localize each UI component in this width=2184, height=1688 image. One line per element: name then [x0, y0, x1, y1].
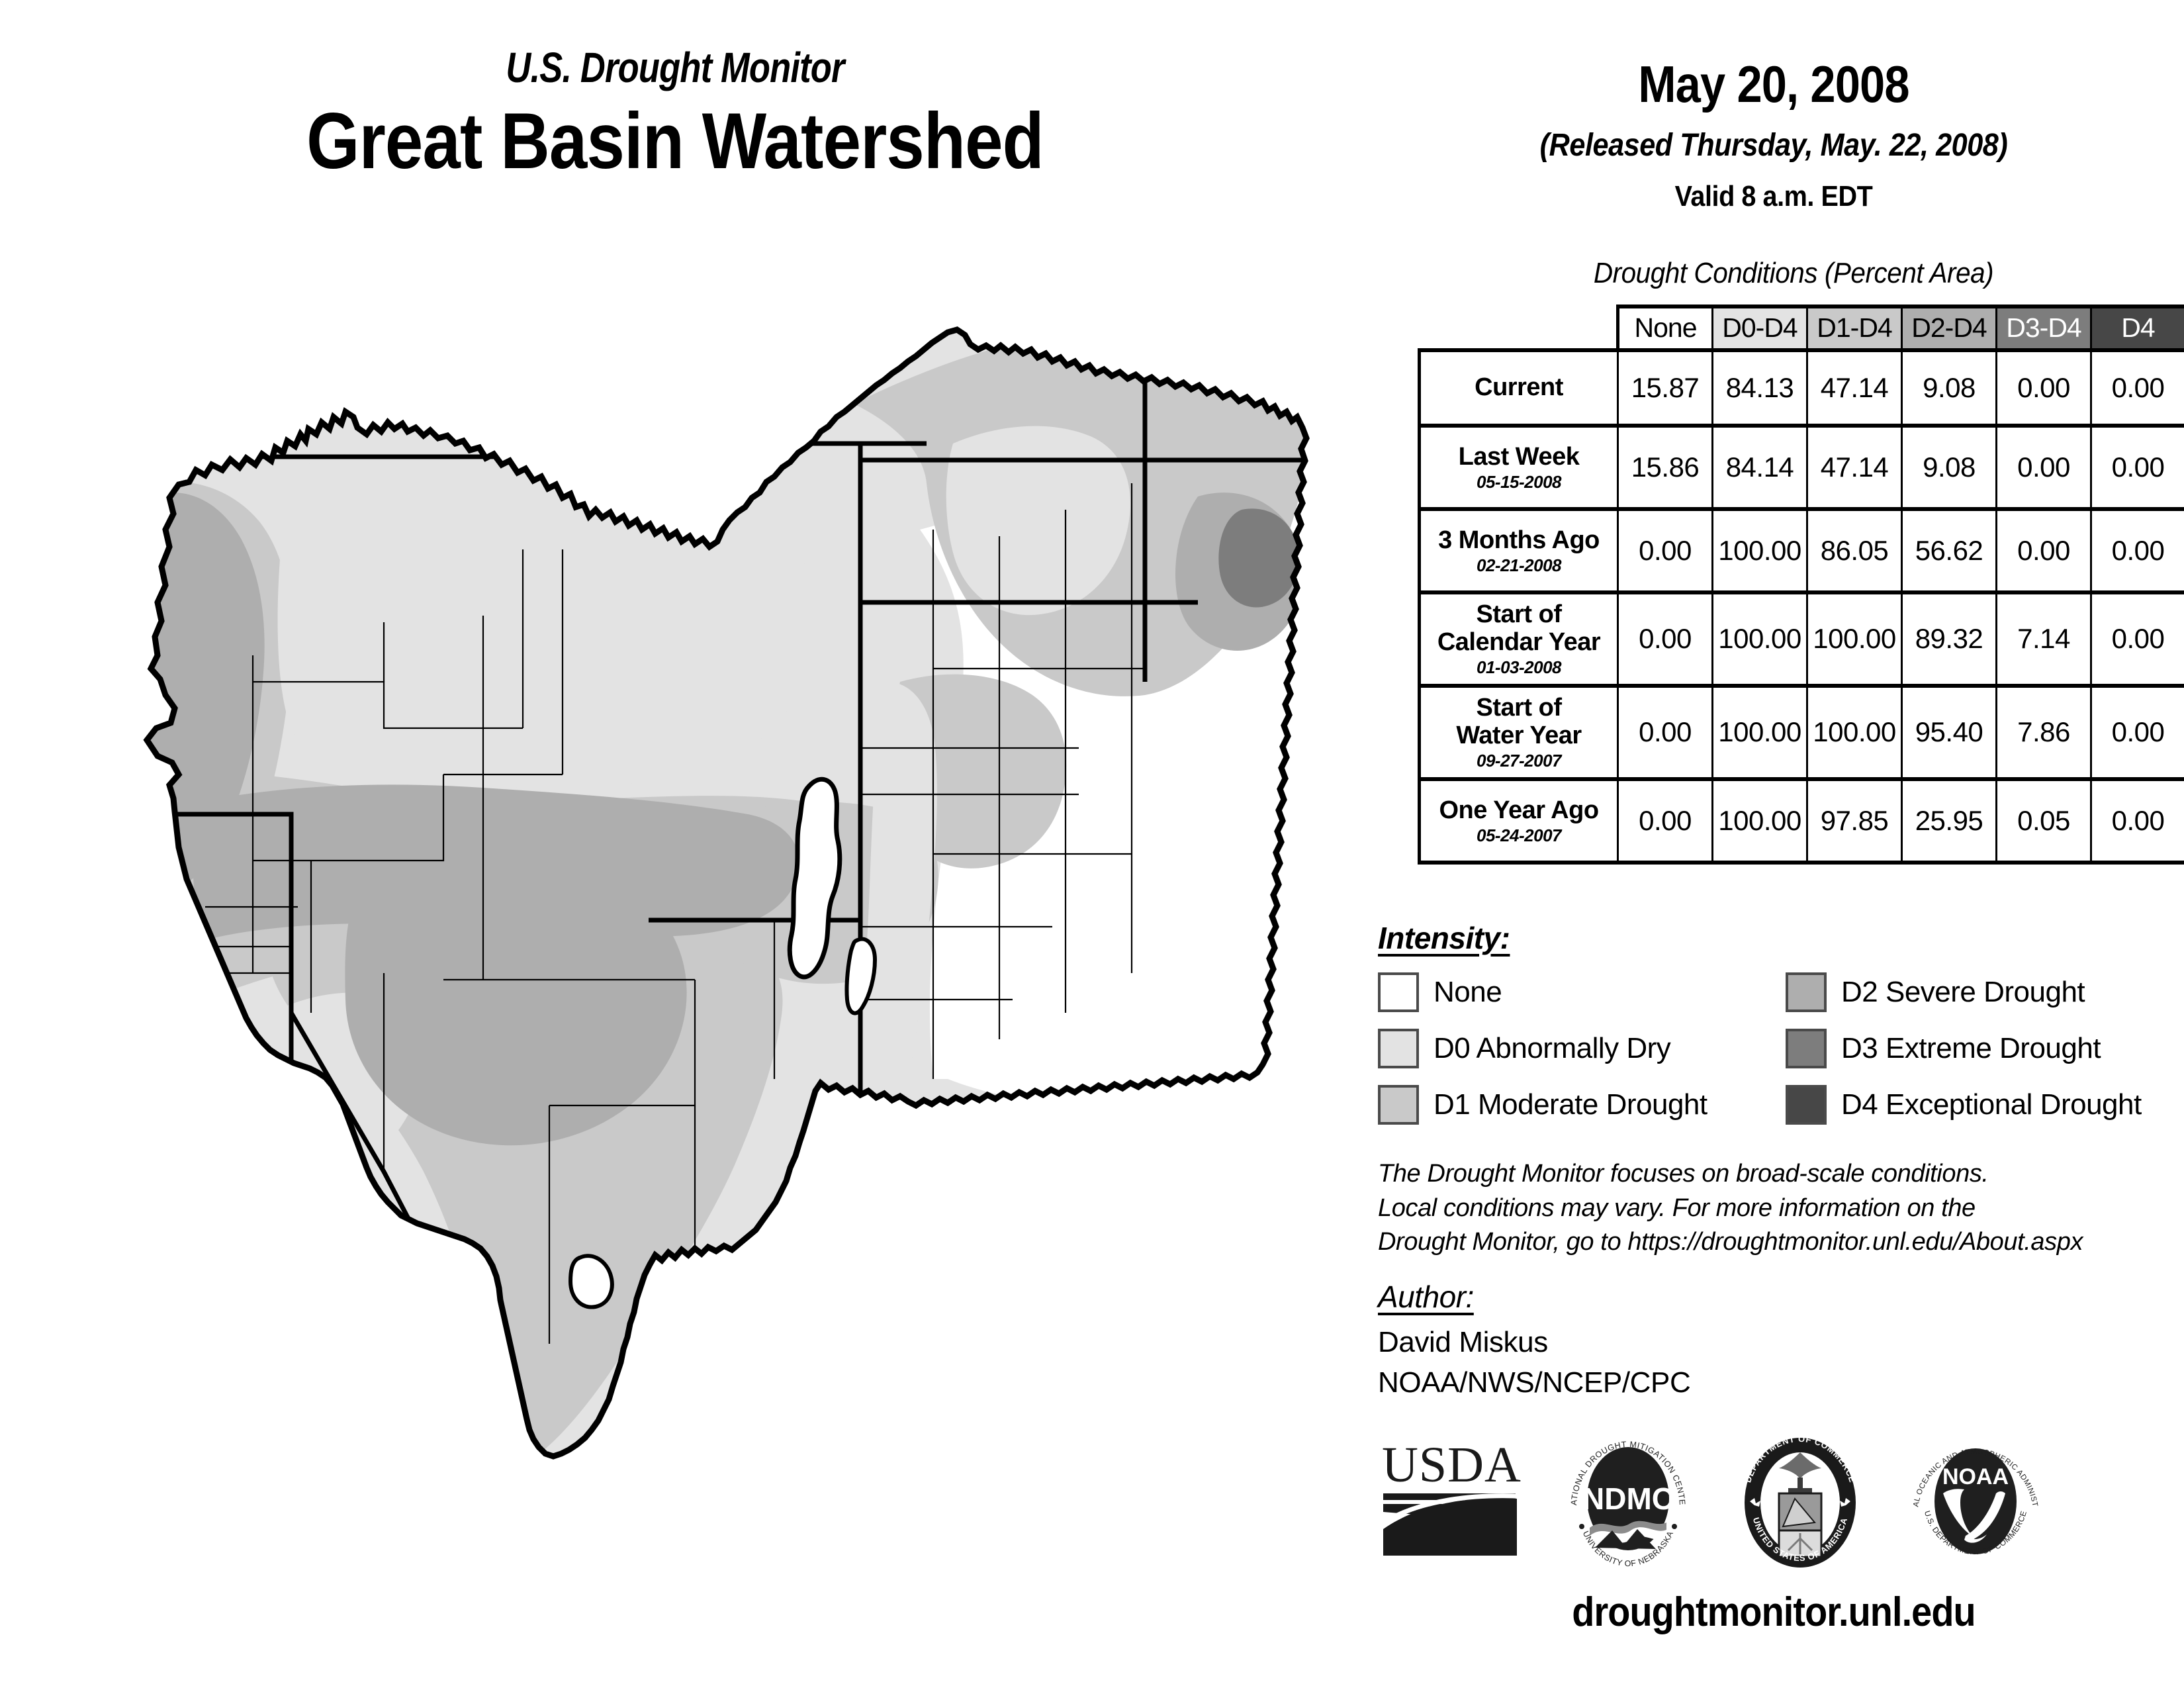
legend-label-none: None [1433, 976, 1502, 1009]
table-header-row: None D0-D4 D1-D4 D2-D4 D3-D4 D4 [1420, 306, 2184, 350]
cell-lastweek-d0d4: 84.14 [1713, 426, 1807, 509]
table-row: Start of Calendar Year 01-03-2008 0.00 1… [1420, 592, 2184, 686]
row-label-3-months-ago: 3 Months Ago 02-21-2008 [1420, 509, 1618, 592]
cell-3mo-d0d4: 100.00 [1713, 509, 1807, 592]
ndmc-logo: NDMC NATIONAL DROUGHT MITIGATION CENTER … [1555, 1430, 1701, 1575]
region-d2-mid-band [193, 784, 799, 940]
cell-swy-d3d4: 7.86 [1997, 686, 2091, 779]
disclaimer-line-2: Local conditions may vary. For more info… [1378, 1192, 2172, 1226]
row-label-text: Last Week [1459, 443, 1580, 471]
cell-swy-d2d4: 95.40 [1902, 686, 1997, 779]
cell-swy-d1d4: 100.00 [1807, 686, 1902, 779]
cell-swy-d0d4: 100.00 [1713, 686, 1807, 779]
row-label-text: Start of Water Year [1456, 694, 1581, 749]
table-caption: Drought Conditions (Percent Area) [1434, 257, 2153, 290]
legend-item-d1[interactable]: D1 Moderate Drought [1378, 1080, 1707, 1129]
intensity-heading: Intensity: [1378, 920, 1510, 956]
cell-swy-none: 0.00 [1618, 686, 1713, 779]
svg-text:NOAA: NOAA [1942, 1464, 2009, 1489]
col-header-d4: D4 [2091, 306, 2184, 350]
cell-scy-d0d4: 100.00 [1713, 592, 1807, 686]
report-date: May 20, 2008 [1412, 54, 2134, 115]
legend-item-d4[interactable]: D4 Exceptional Drought [1786, 1080, 2142, 1129]
row-label-one-year-ago: One Year Ago 05-24-2007 [1420, 779, 1618, 863]
right-panel: May 20, 2008 (Released Thursday, May. 22… [1363, 0, 2184, 1688]
row-label-date: 05-24-2007 [1421, 826, 1617, 845]
release-date: (Released Thursday, May. 22, 2008) [1404, 127, 2143, 164]
cell-1yr-d4: 0.00 [2091, 779, 2184, 863]
col-header-d3d4: D3-D4 [1997, 306, 2091, 350]
col-header-d0d4: D0-D4 [1713, 306, 1807, 350]
cell-1yr-d3d4: 0.05 [1997, 779, 2091, 863]
cell-1yr-d0d4: 100.00 [1713, 779, 1807, 863]
cell-lastweek-d1d4: 47.14 [1807, 426, 1902, 509]
cell-1yr-d1d4: 97.85 [1807, 779, 1902, 863]
legend-label-d3: D3 Extreme Drought [1841, 1032, 2101, 1065]
row-label-start-water-year: Start of Water Year 09-27-2007 [1420, 686, 1618, 779]
table-row: 3 Months Ago 02-21-2008 0.00 100.00 86.0… [1420, 509, 2184, 592]
legend-label-d1: D1 Moderate Drought [1433, 1088, 1707, 1121]
cell-3mo-none: 0.00 [1618, 509, 1713, 592]
table-row: Start of Water Year 09-27-2007 0.00 100.… [1420, 686, 2184, 779]
cell-scy-d1d4: 100.00 [1807, 592, 1902, 686]
legend-column-left: None D0 Abnormally Dry D1 Moderate Droug… [1378, 968, 1707, 1137]
disclaimer-line-3: Drought Monitor, go to https://droughtmo… [1378, 1225, 2172, 1260]
cell-lastweek-d2d4: 9.08 [1902, 426, 1997, 509]
svg-text:USDA: USDA [1382, 1437, 1522, 1493]
cell-scy-d4: 0.00 [2091, 592, 2184, 686]
row-label-last-week: Last Week 05-15-2008 [1420, 426, 1618, 509]
row-label-start-calendar-year: Start of Calendar Year 01-03-2008 [1420, 592, 1618, 686]
table-row: Last Week 05-15-2008 15.86 84.14 47.14 9… [1420, 426, 2184, 509]
legend-item-d0[interactable]: D0 Abnormally Dry [1378, 1024, 1707, 1073]
noaa-logo: NOAA NATIONAL OCEANIC AND ATMOSPHERIC AD… [1899, 1430, 2052, 1575]
row-label-date: 09-27-2007 [1421, 751, 1617, 771]
table-corner-cell [1420, 306, 1618, 350]
cell-current-d4: 0.00 [2091, 350, 2184, 426]
cell-3mo-d3d4: 0.00 [1997, 509, 2091, 592]
svg-text:NDMC: NDMC [1582, 1481, 1674, 1516]
page-eyebrow: U.S. Drought Monitor [122, 46, 1229, 89]
cell-lastweek-none: 15.86 [1618, 426, 1713, 509]
legend-label-d0: D0 Abnormally Dry [1433, 1032, 1670, 1065]
disclaimer-line-1: The Drought Monitor focuses on broad-sca… [1378, 1157, 2172, 1192]
col-header-d2d4: D2-D4 [1902, 306, 1997, 350]
cell-current-none: 15.87 [1618, 350, 1713, 426]
table-row: One Year Ago 05-24-2007 0.00 100.00 97.8… [1420, 779, 2184, 863]
author-heading: Author: [1378, 1279, 1474, 1315]
map-svg [73, 311, 1363, 1523]
cell-lastweek-d4: 0.00 [2091, 426, 2184, 509]
cell-scy-d3d4: 7.14 [1997, 592, 2091, 686]
row-label-text: Start of Calendar Year [1437, 600, 1600, 656]
author-affiliation: NOAA/NWS/NCEP/CPC [1378, 1363, 1690, 1403]
swatch-d2-icon [1786, 972, 1827, 1012]
author-name: David Miskus [1378, 1323, 1690, 1363]
cell-scy-none: 0.00 [1618, 592, 1713, 686]
legend-column-right: D2 Severe Drought D3 Extreme Drought D4 … [1786, 968, 2142, 1137]
col-header-none: None [1618, 306, 1713, 350]
row-label-date: 05-15-2008 [1421, 473, 1617, 492]
swatch-none-icon [1378, 972, 1419, 1012]
usda-logo: USDA [1377, 1430, 1529, 1569]
title-block: U.S. Drought Monitor Great Basin Watersh… [0, 46, 1350, 183]
legend-item-d2[interactable]: D2 Severe Drought [1786, 968, 2142, 1017]
cell-3mo-d1d4: 86.05 [1807, 509, 1902, 592]
disclaimer-text: The Drought Monitor focuses on broad-sca… [1378, 1157, 2172, 1260]
legend-label-d2: D2 Severe Drought [1841, 976, 2085, 1009]
legend-label-d4: D4 Exceptional Drought [1841, 1088, 2142, 1121]
cell-3mo-d4: 0.00 [2091, 509, 2184, 592]
drought-map[interactable] [73, 311, 1363, 1523]
cell-1yr-d2d4: 25.95 [1902, 779, 1997, 863]
valid-time: Valid 8 a.m. EDT [1404, 180, 2143, 213]
col-header-d1d4: D1-D4 [1807, 306, 1902, 350]
swatch-d4-icon [1786, 1085, 1827, 1125]
row-label-date: 01-03-2008 [1421, 658, 1617, 677]
row-label-text: Current [1475, 373, 1563, 401]
row-label-current: Current [1420, 350, 1618, 426]
cell-current-d0d4: 84.13 [1713, 350, 1807, 426]
map-lake-mono [570, 1256, 612, 1307]
cell-current-d2d4: 9.08 [1902, 350, 1997, 426]
cell-3mo-d2d4: 56.62 [1902, 509, 1997, 592]
swatch-d3-icon [1786, 1029, 1827, 1068]
table-row: Current 15.87 84.13 47.14 9.08 0.00 0.00 [1420, 350, 2184, 426]
cell-current-d3d4: 0.00 [1997, 350, 2091, 426]
logo-row: USDA NDMC NATIONAL DROUGHT MITIGATION CE… [1370, 1430, 2177, 1582]
row-label-text: 3 Months Ago [1438, 526, 1600, 554]
row-label-text: One Year Ago [1439, 796, 1598, 824]
page-title: Great Basin Watershed [95, 99, 1255, 183]
swatch-d0-icon [1378, 1029, 1419, 1068]
site-url[interactable]: droughtmonitor.unl.edu [1404, 1589, 2143, 1636]
cell-swy-d4: 0.00 [2091, 686, 2184, 779]
legend-item-d3[interactable]: D3 Extreme Drought [1786, 1024, 2142, 1073]
cell-lastweek-d3d4: 0.00 [1997, 426, 2091, 509]
cell-scy-d2d4: 89.32 [1902, 592, 1997, 686]
cell-current-d1d4: 47.14 [1807, 350, 1902, 426]
cell-1yr-none: 0.00 [1618, 779, 1713, 863]
drought-conditions-table: None D0-D4 D1-D4 D2-D4 D3-D4 D4 Current … [1418, 305, 2184, 865]
row-label-date: 02-21-2008 [1421, 556, 1617, 575]
swatch-d1-icon [1378, 1085, 1419, 1125]
legend-item-none[interactable]: None [1378, 968, 1707, 1017]
author-block: David Miskus NOAA/NWS/NCEP/CPC [1378, 1323, 1690, 1403]
department-of-commerce-seal: DEPARTMENT OF COMMERCE UNITED STATES OF … [1727, 1430, 1873, 1575]
